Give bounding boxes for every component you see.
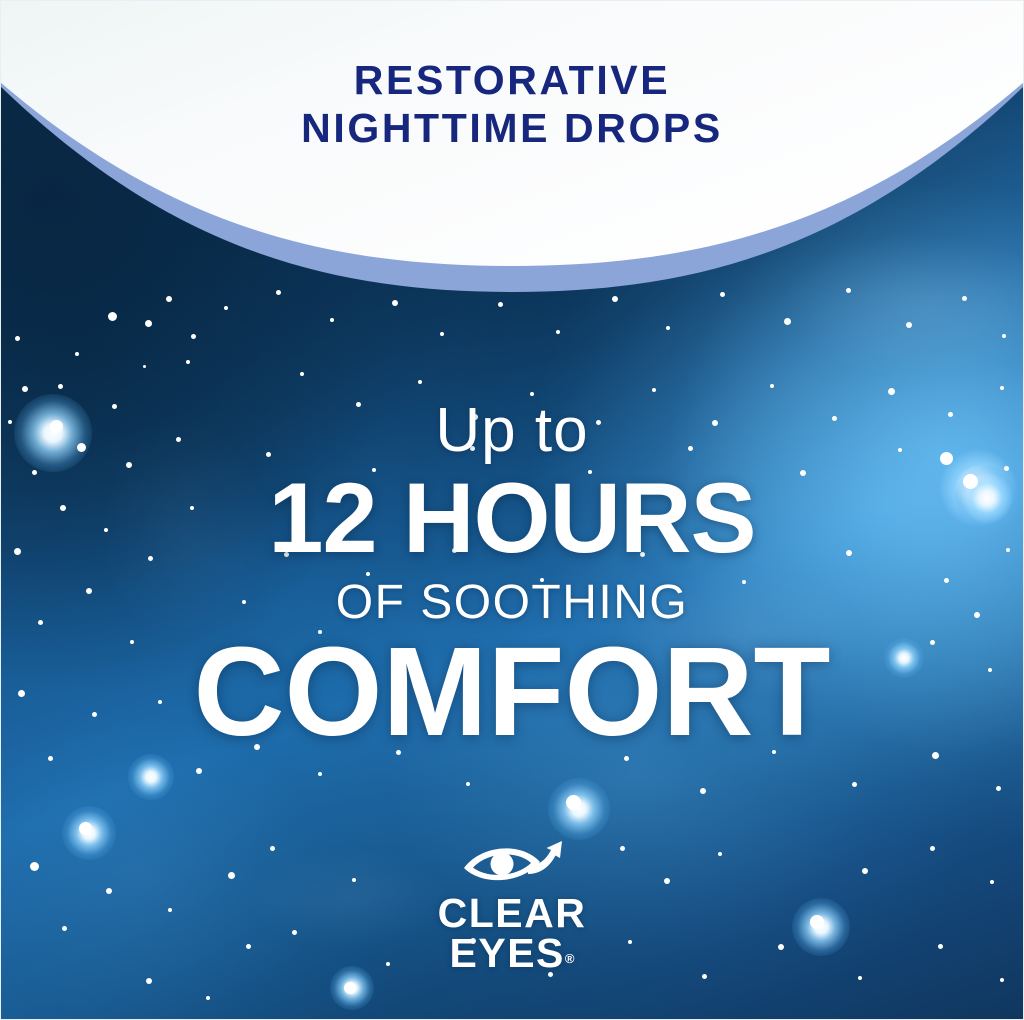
promo-duration: 12 HOURS [0, 468, 1024, 569]
logo-word-eyes: EYES® [0, 934, 1024, 974]
eye-with-arrow-icon [456, 836, 568, 888]
promo-eyebrow: Up to [0, 400, 1024, 462]
registered-trademark-mark: ® [565, 951, 575, 966]
headline: RESTORATIVE NIGHTTIME DROPS [0, 56, 1024, 153]
promo-claim: Up to 12 HOURS OF SOOTHING COMFORT [0, 400, 1024, 755]
product-marketing-banner: RESTORATIVE NIGHTTIME DROPS Up to 12 HOU… [0, 0, 1024, 1020]
headline-line-1: RESTORATIVE [0, 56, 1024, 104]
promo-connector: OF SOOTHING [0, 579, 1024, 627]
promo-benefit: COMFORT [0, 629, 1024, 755]
brand-logo: CLEAR EYES® [0, 836, 1024, 974]
logo-word-clear: CLEAR [0, 894, 1024, 934]
logo-word-eyes-text: EYES [450, 930, 565, 976]
headline-line-2: NIGHTTIME DROPS [0, 104, 1024, 152]
